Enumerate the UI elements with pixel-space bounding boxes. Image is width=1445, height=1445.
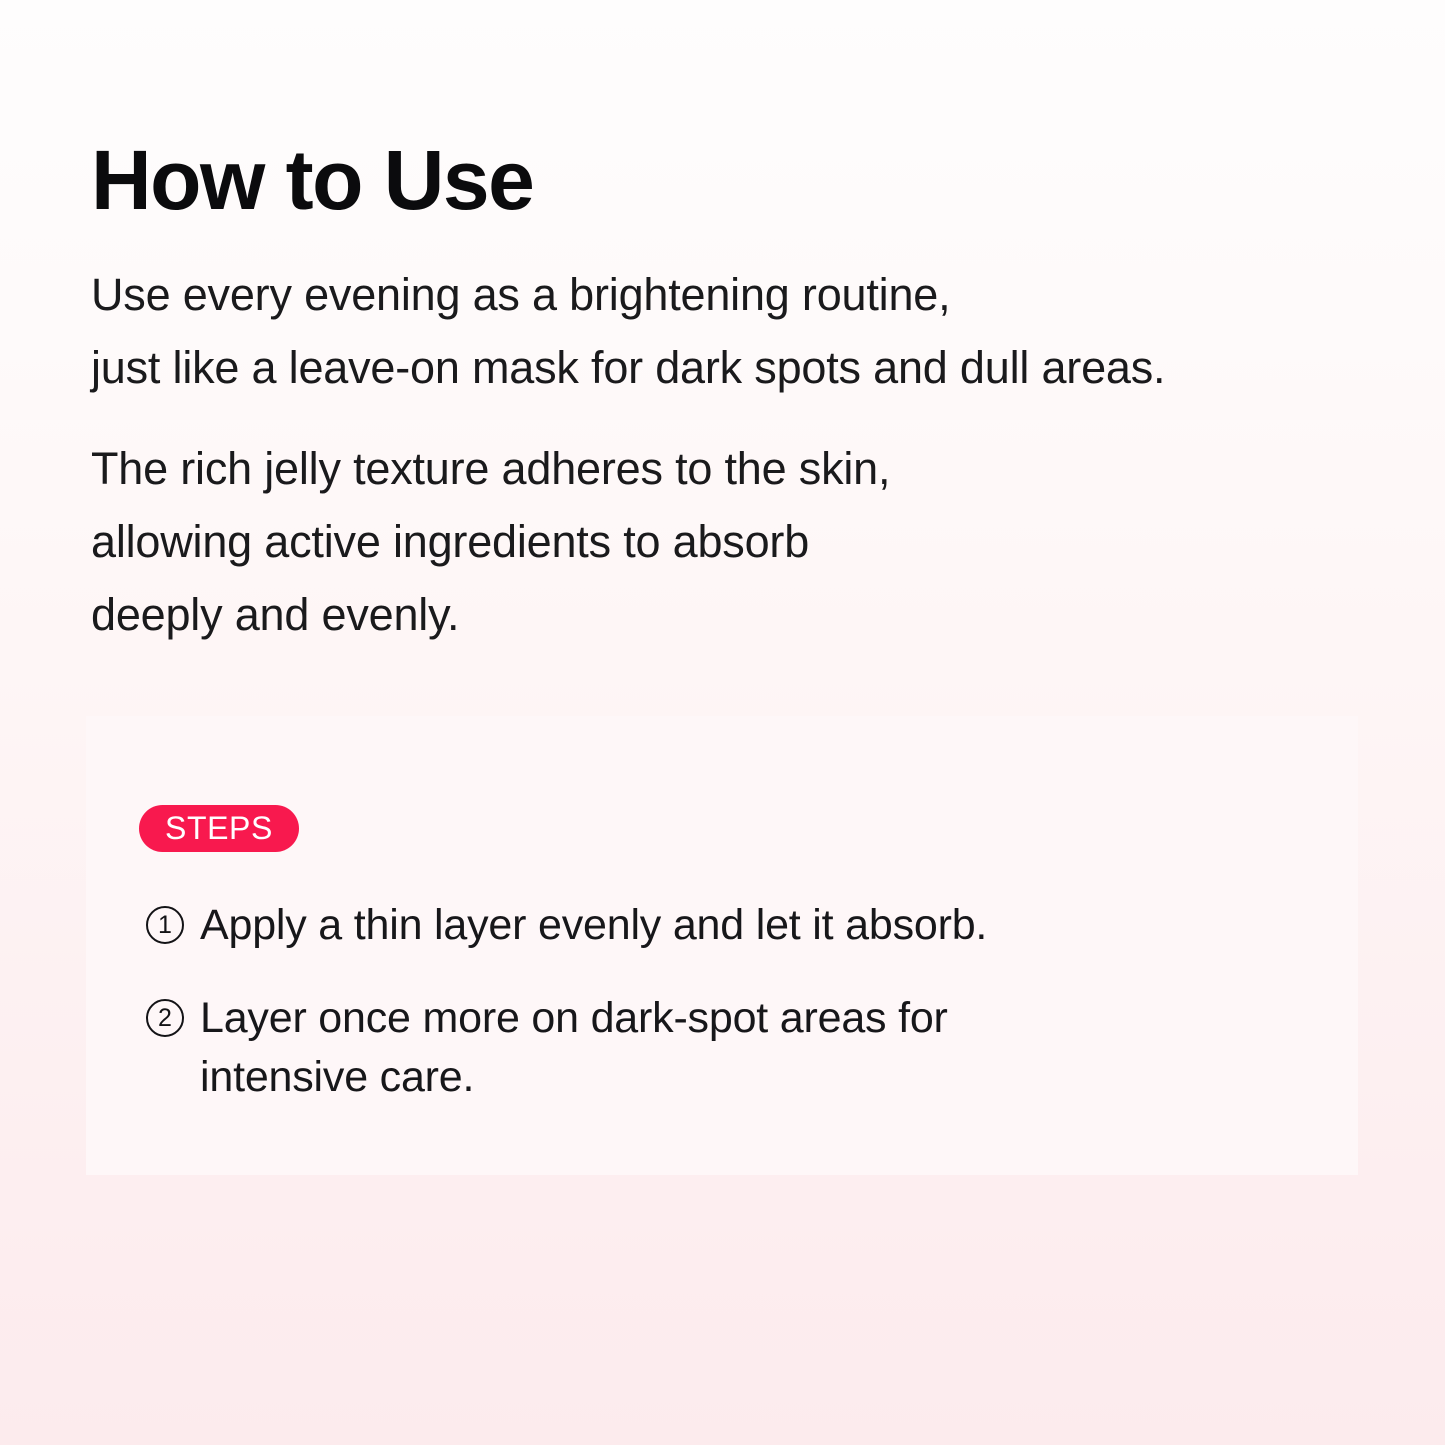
intro-line: allowing active ingredients to absorb	[91, 505, 1361, 578]
steps-list: 1 Apply a thin layer evenly and let it a…	[146, 896, 1308, 1107]
how-to-use-page: How to Use Use every evening as a bright…	[0, 0, 1445, 1445]
page-title: How to Use	[91, 138, 533, 222]
steps-badge-row: STEPS	[139, 805, 299, 852]
intro-line: deeply and evenly.	[91, 578, 1361, 651]
intro-line: The rich jelly texture adheres to the sk…	[91, 432, 1361, 505]
list-item: 2 Layer once more on dark-spot areas for…	[146, 989, 1308, 1107]
intro-paragraph: The rich jelly texture adheres to the sk…	[91, 432, 1361, 651]
step-line: Layer once more on dark-spot areas for	[200, 989, 1308, 1048]
steps-card: STEPS 1 Apply a thin layer evenly and le…	[86, 716, 1358, 1175]
status-badge: STEPS	[139, 805, 299, 852]
step-number-circle-icon: 2	[146, 999, 184, 1037]
intro-line: Use every evening as a brightening routi…	[91, 258, 1361, 331]
intro-line: just like a leave-on mask for dark spots…	[91, 331, 1361, 404]
intro-section: Use every evening as a brightening routi…	[91, 258, 1361, 651]
step-text: Apply a thin layer evenly and let it abs…	[200, 896, 1308, 955]
step-number-circle-icon: 1	[146, 906, 184, 944]
step-line: intensive care.	[200, 1048, 1308, 1107]
list-item: 1 Apply a thin layer evenly and let it a…	[146, 896, 1308, 955]
step-text: Layer once more on dark-spot areas for i…	[200, 989, 1308, 1107]
step-line: Apply a thin layer evenly and let it abs…	[200, 896, 1308, 955]
intro-paragraph: Use every evening as a brightening routi…	[91, 258, 1361, 404]
